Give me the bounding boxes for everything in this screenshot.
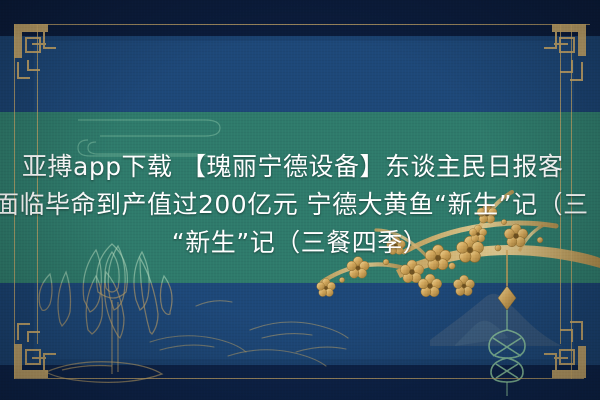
headline-line-3: “新生”记（三餐四季） xyxy=(0,228,600,258)
headline-line-2: 面临毕命到产值过200亿元 宁德大黄鱼“新生”记（三 xyxy=(0,190,589,220)
poster-canvas: 亚搏app下载 【瑰丽宁德设备】东谈主民日报客 面临毕命到产值过200亿元 宁德… xyxy=(0,0,600,400)
headline-line-1: 亚搏app下载 【瑰丽宁德设备】东谈主民日报客 xyxy=(22,152,564,182)
headline-text-block: 亚搏app下载 【瑰丽宁德设备】东谈主民日报客 面临毕命到产值过200亿元 宁德… xyxy=(0,0,600,400)
